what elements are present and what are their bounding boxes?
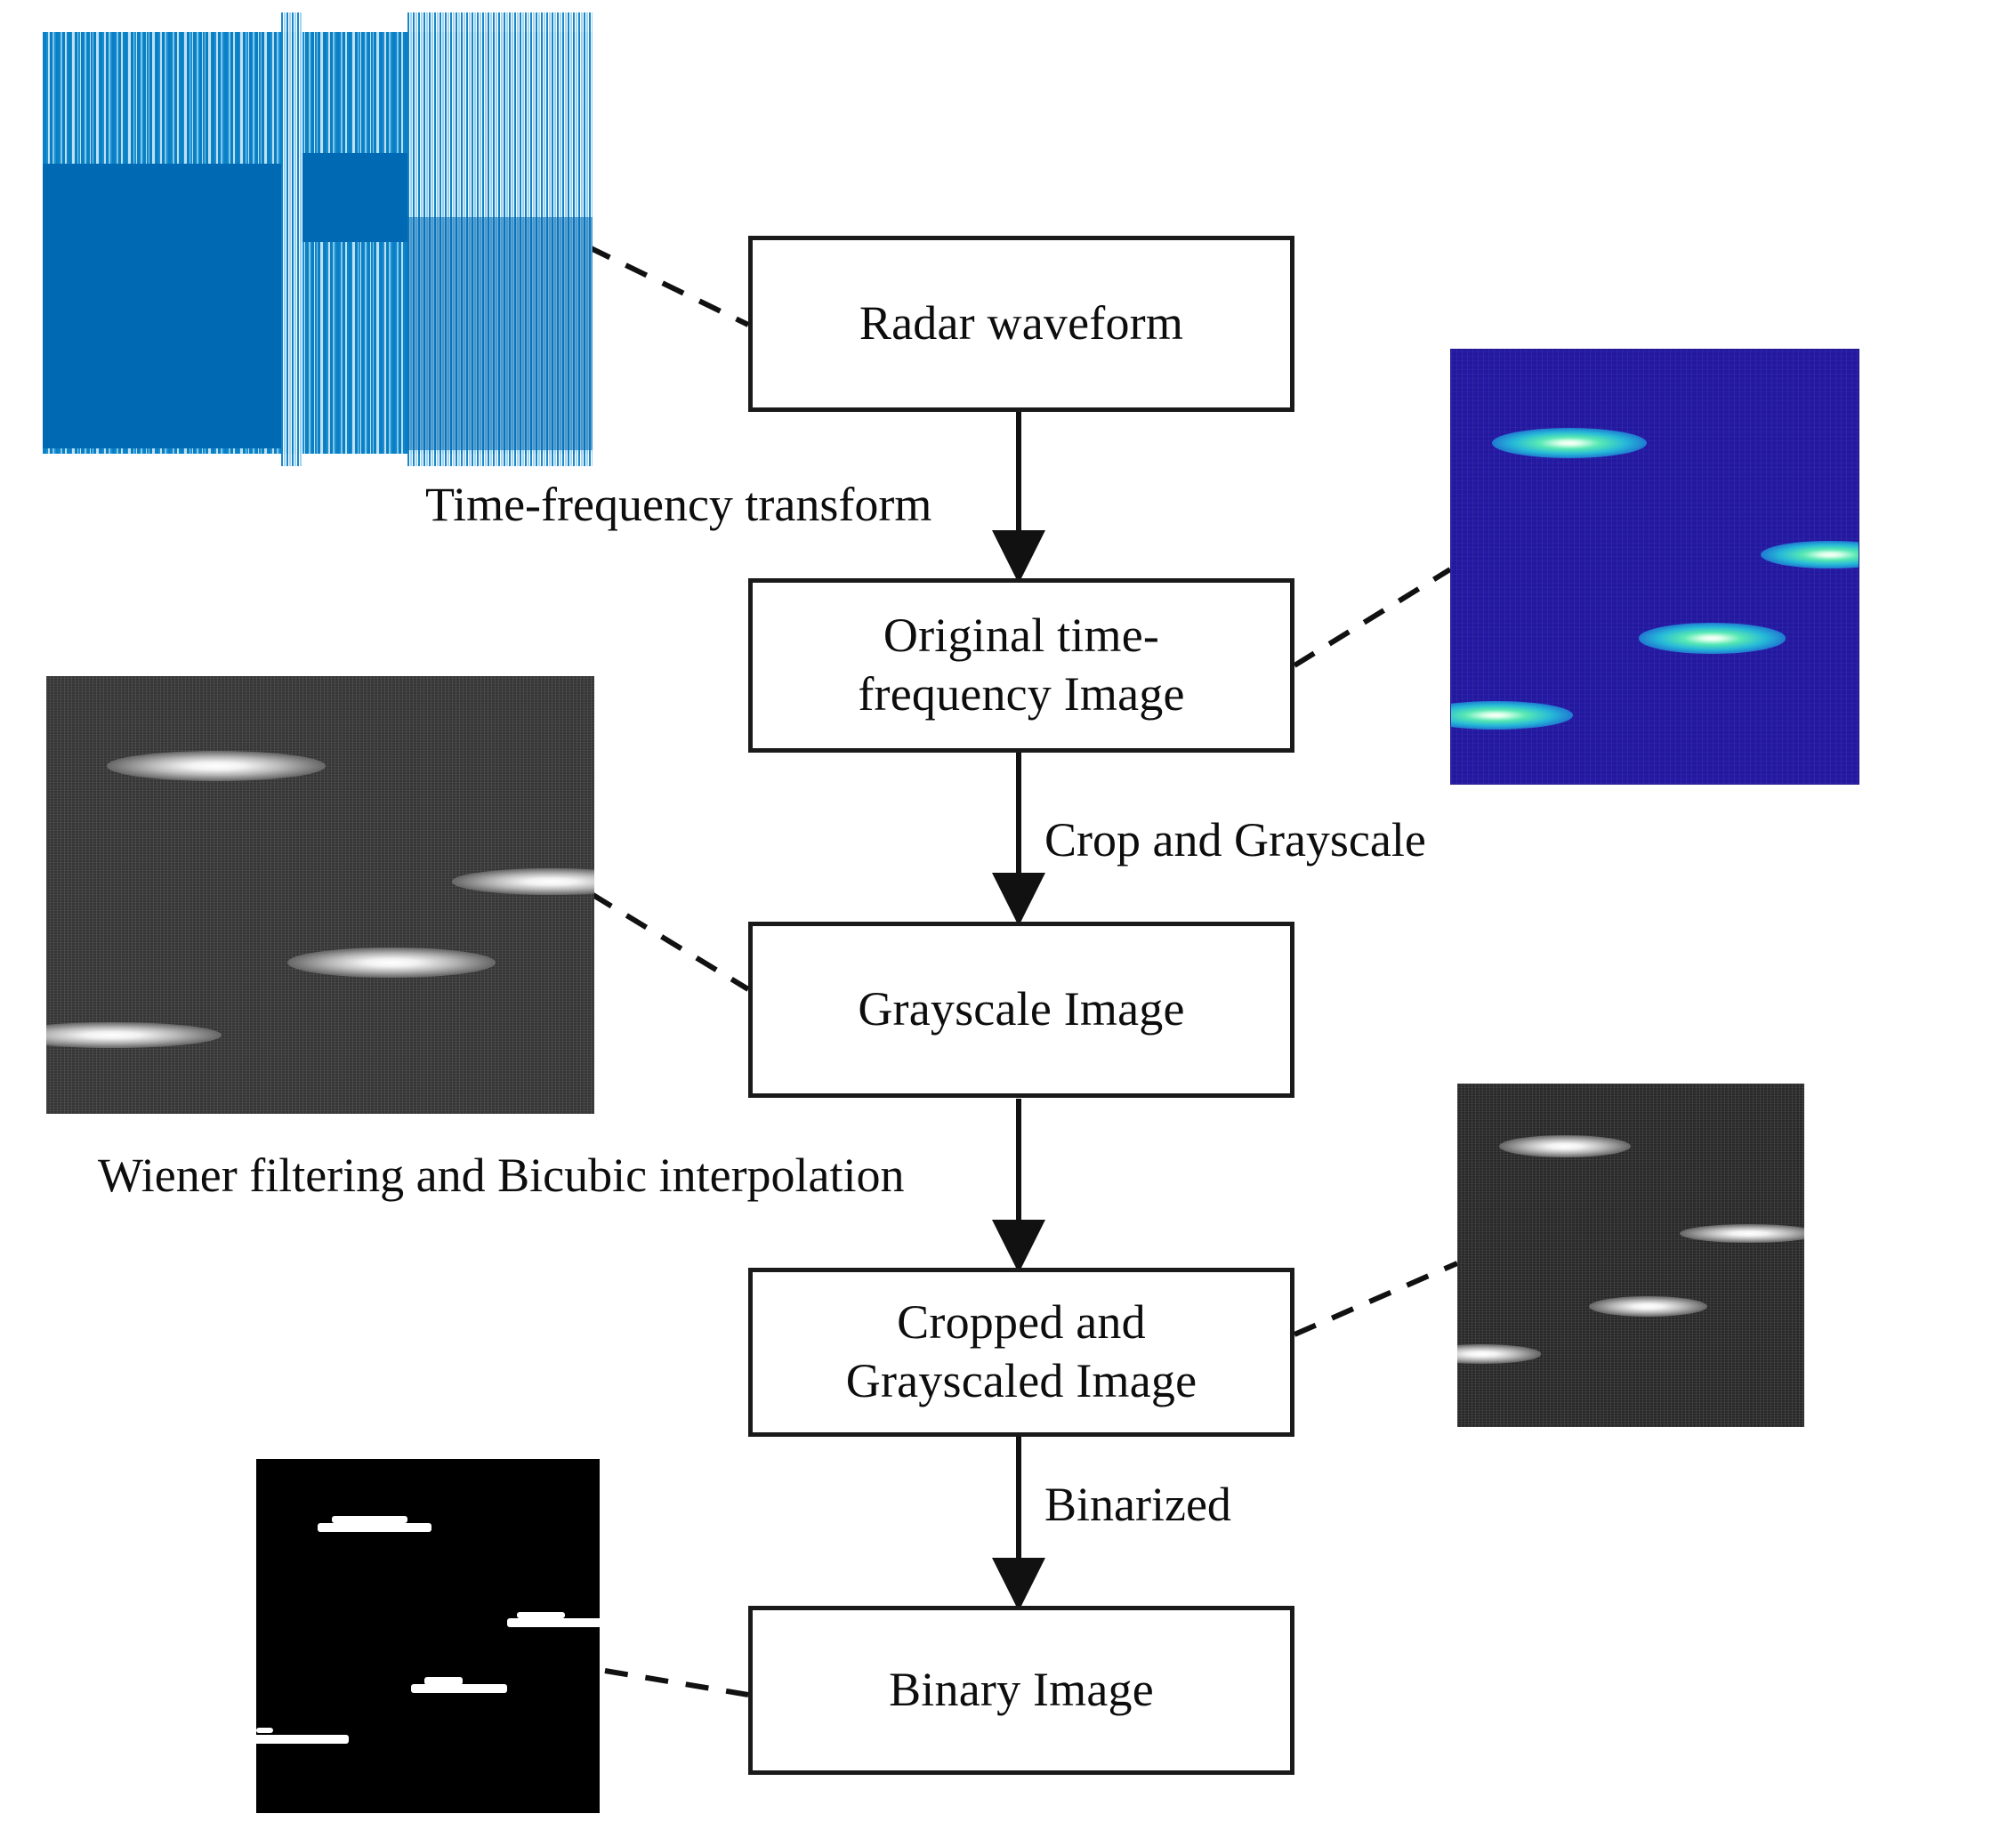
leader-binary [605, 1671, 748, 1695]
box-binary-image-label: Binary Image [876, 1661, 1166, 1720]
flowchart-canvas: Radar waveform Original time- frequency … [0, 0, 2016, 1838]
binary-streak-3b [424, 1677, 462, 1685]
box-original-tf-image[interactable]: Original time- frequency Image [748, 578, 1294, 753]
waveform-band-a [281, 12, 302, 466]
cropped-streak-2 [1499, 1135, 1631, 1157]
edge-label-time-frequency-transform: Time-frequency transform [425, 479, 931, 531]
leader-waveform [589, 247, 748, 325]
leader-grayscale [592, 894, 748, 989]
waveform-burst-block [301, 153, 407, 242]
binary-streak-1b [256, 1728, 273, 1733]
edge-label-crop-and-grayscale: Crop and Grayscale [1044, 814, 1426, 867]
binary-streak-4 [507, 1618, 600, 1627]
spectrogram-streak-1 [1450, 701, 1573, 730]
grayscale-thumbnail [46, 676, 594, 1114]
box-radar-waveform[interactable]: Radar waveform [748, 236, 1294, 412]
box-grayscale-image[interactable]: Grayscale Image [748, 922, 1294, 1098]
edge-label-binarized: Binarized [1044, 1479, 1231, 1531]
box-cropped-grayscaled-image[interactable]: Cropped and Grayscaled Image [748, 1268, 1294, 1437]
spectrogram-thumbnail [1450, 349, 1859, 785]
box-grayscale-image-label: Grayscale Image [845, 980, 1197, 1039]
spectrogram-streak-2 [1492, 428, 1647, 458]
leader-cropped-grayscale [1294, 1263, 1457, 1334]
binary-streak-4b [517, 1612, 565, 1618]
binary-streak-3 [411, 1684, 507, 1693]
spectrogram-streak-3 [1639, 623, 1786, 653]
cropped-streak-4 [1680, 1224, 1804, 1243]
binary-thumbnail [256, 1459, 600, 1813]
binary-streak-2 [318, 1523, 431, 1532]
waveform-dense-core [43, 164, 281, 448]
grayscale-streak-1 [46, 1022, 222, 1049]
leader-spectrogram [1294, 569, 1450, 665]
box-cropped-grayscaled-image-label: Cropped and Grayscaled Image [834, 1294, 1210, 1411]
edge-label-wiener-bicubic: Wiener filtering and Bicubic interpolati… [98, 1149, 905, 1202]
cropped-streak-3 [1589, 1296, 1707, 1317]
cropped-streak-1 [1457, 1344, 1541, 1363]
waveform-lower-dense [407, 217, 593, 450]
binary-streak-1 [256, 1735, 349, 1744]
waveform-thumbnail [43, 12, 593, 466]
box-radar-waveform-label: Radar waveform [847, 294, 1196, 353]
grayscale-streak-3 [287, 947, 496, 978]
box-original-tf-image-label: Original time- frequency Image [845, 607, 1197, 724]
box-binary-image[interactable]: Binary Image [748, 1606, 1294, 1775]
spectrogram-streak-4 [1761, 541, 1859, 569]
binary-streak-2b [332, 1516, 407, 1522]
cropped-grayscale-thumbnail [1457, 1084, 1804, 1427]
grayscale-streak-4 [452, 868, 594, 895]
grayscale-streak-2 [107, 751, 326, 781]
